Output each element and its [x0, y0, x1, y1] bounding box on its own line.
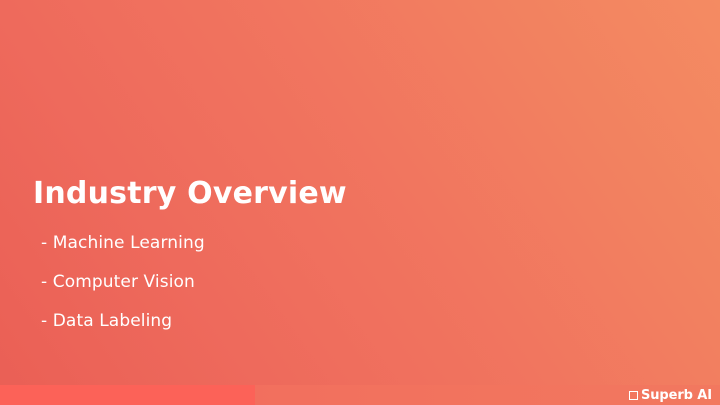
bullet-list: - Machine Learning - Computer Vision - D…	[41, 233, 205, 332]
footer-band-accent	[0, 385, 255, 405]
list-item: - Machine Learning	[41, 233, 205, 254]
square-outline-icon	[629, 391, 638, 400]
slide-content: Industry Overview - Machine Learning - C…	[0, 0, 720, 405]
footer-band	[0, 385, 720, 405]
presentation-slide: Industry Overview - Machine Learning - C…	[0, 0, 720, 405]
page-title: Industry Overview	[33, 175, 347, 213]
brand-logo: Superb AI	[629, 387, 712, 403]
list-item: - Computer Vision	[41, 272, 205, 293]
list-item: - Data Labeling	[41, 311, 205, 332]
brand-name-label: Superb AI	[641, 389, 712, 402]
